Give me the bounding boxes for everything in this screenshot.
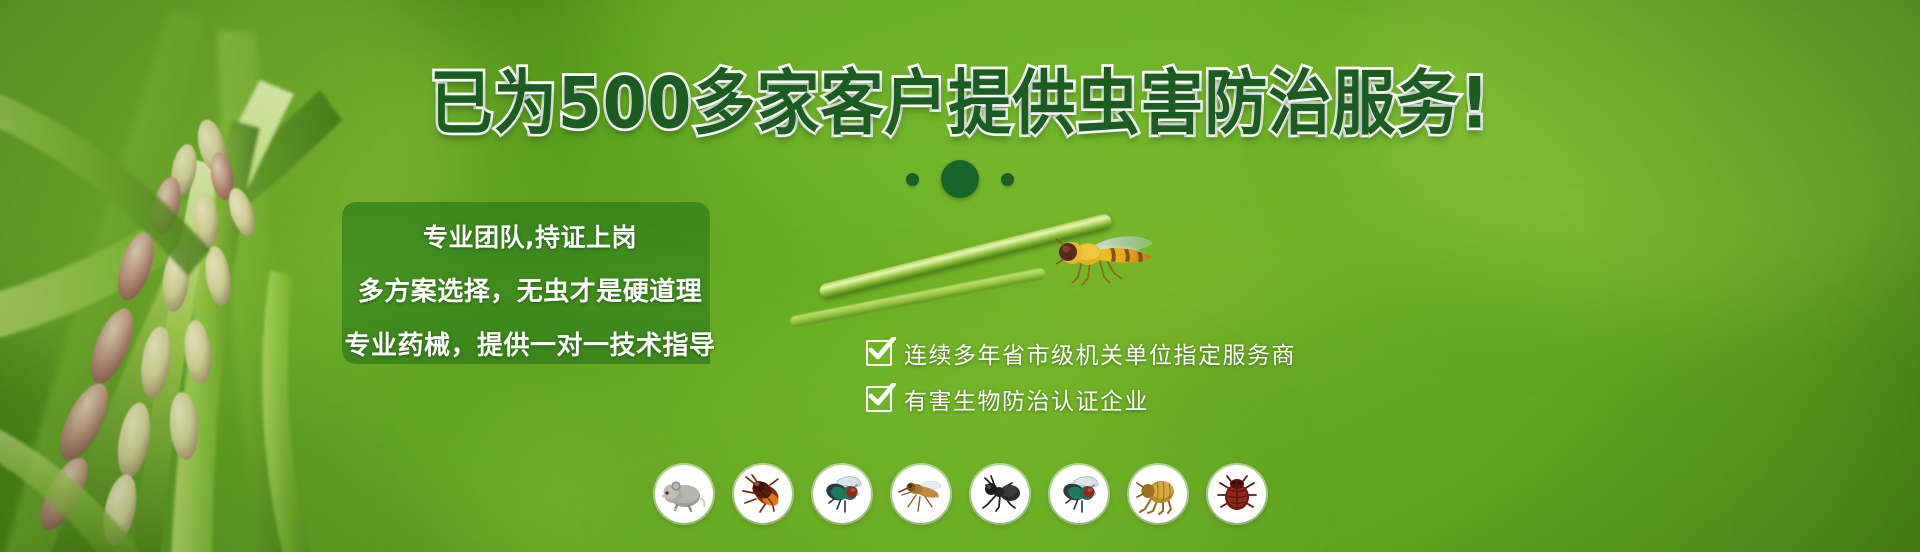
grass-stem-primary xyxy=(818,213,1113,300)
pest-icon-flea[interactable] xyxy=(1129,465,1187,523)
checkbox-check-icon xyxy=(866,386,892,412)
fly-icon xyxy=(819,473,865,515)
mosquito-icon xyxy=(898,473,944,515)
ant-icon xyxy=(977,474,1023,514)
blowfly-icon xyxy=(1056,473,1102,515)
dot-small-left xyxy=(906,173,919,186)
bedbug-icon xyxy=(1214,473,1260,515)
flea-icon xyxy=(1135,473,1181,515)
pest-icon-fly[interactable] xyxy=(813,465,871,523)
checklist-item: 有害生物防治认证企业 xyxy=(866,376,1296,422)
checklist-item-label: 连续多年省市级机关单位指定服务商 xyxy=(904,336,1296,370)
cockroach-icon xyxy=(740,473,786,515)
pest-control-promo-banner: 已为500多家客户提供虫害防治服务! xyxy=(0,0,1920,552)
decorative-dots xyxy=(0,160,1920,198)
checklist-item: 连续多年省市级机关单位指定服务商 xyxy=(866,330,1296,376)
check-mark-icon xyxy=(868,337,896,361)
pest-icon-mosquito[interactable] xyxy=(892,465,950,523)
pest-icon-ant[interactable] xyxy=(971,465,1029,523)
grass-stem-secondary xyxy=(789,267,1046,327)
pest-icon-mouse[interactable] xyxy=(655,465,713,523)
feature-line-1: 专业团队,持证上岗 xyxy=(330,218,730,254)
page-title: 已为500多家客户提供虫害防治服务! xyxy=(0,72,1920,135)
dot-large-center xyxy=(941,160,979,198)
checkbox-check-icon xyxy=(866,340,892,366)
pest-icon-row xyxy=(0,465,1920,523)
certification-checklist: 连续多年省市级机关单位指定服务商 有害生物防治认证企业 xyxy=(866,330,1296,422)
feature-line-3: 专业药械，提供一对一技术指导 xyxy=(330,325,730,362)
pest-icon-blowfly[interactable] xyxy=(1050,465,1108,523)
checklist-item-label: 有害生物防治认证企业 xyxy=(904,382,1149,416)
check-mark-icon xyxy=(868,383,896,407)
hoverfly-icon xyxy=(1048,231,1158,291)
feature-text-lines: 专业团队,持证上岗 多方案选择，无虫才是硬道理 专业药械，提供一对一技术指导 xyxy=(330,208,730,368)
headline-text: 已为500多家客户提供虫害防治服务! xyxy=(430,68,1490,139)
pest-icon-bedbug[interactable] xyxy=(1208,465,1266,523)
mouse-icon xyxy=(661,474,707,514)
pest-icon-cockroach[interactable] xyxy=(734,465,792,523)
dot-small-right xyxy=(1001,173,1014,186)
feature-line-2: 多方案选择，无虫才是硬道理 xyxy=(330,271,730,308)
